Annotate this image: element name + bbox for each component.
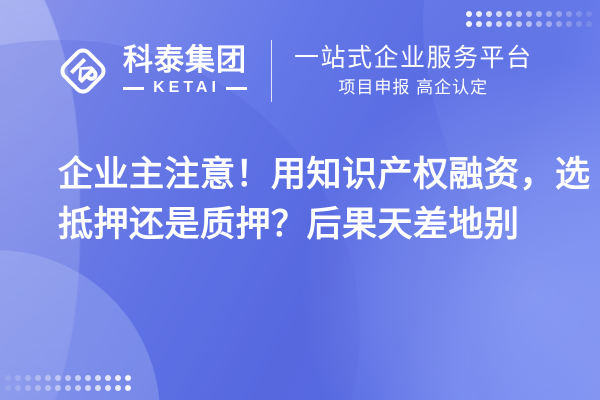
dot xyxy=(15,385,21,391)
headline: 企业主注意！用知识产权融资，选 抵押还是质押？后果天差地别 xyxy=(58,150,558,250)
dot xyxy=(55,385,61,391)
dot xyxy=(115,375,121,381)
dot xyxy=(105,385,111,391)
dot xyxy=(516,21,522,27)
dot xyxy=(75,375,81,381)
dot xyxy=(85,375,91,381)
dot xyxy=(466,21,472,27)
banner-header: 科泰集团 KETAI 一站式企业服务平台 项目申报 高企认定 xyxy=(55,33,533,109)
tagline-block: 一站式企业服务平台 项目申报 高企认定 xyxy=(294,44,533,98)
logo-english-row: KETAI xyxy=(123,79,247,97)
logo-rule-left xyxy=(123,87,144,90)
dot xyxy=(486,11,492,17)
dot xyxy=(486,21,492,27)
dot xyxy=(506,21,512,27)
dot xyxy=(556,21,562,27)
dot xyxy=(125,385,131,391)
dot xyxy=(25,385,31,391)
dot xyxy=(45,375,51,381)
logo-wordmark: 科泰集团 KETAI xyxy=(123,45,247,97)
dot xyxy=(506,11,512,17)
dot xyxy=(586,11,592,17)
dot xyxy=(536,21,542,27)
tagline-sub: 项目申报 高企认定 xyxy=(294,78,533,98)
logo-rule-right xyxy=(226,87,247,90)
dot xyxy=(35,385,41,391)
dot xyxy=(85,385,91,391)
dot xyxy=(25,375,31,381)
dot xyxy=(466,11,472,17)
ketai-logo[interactable]: 科泰集团 KETAI xyxy=(55,43,247,99)
dot xyxy=(536,11,542,17)
dot-grid-top-right xyxy=(466,11,592,27)
logo-company-name-en: KETAI xyxy=(144,79,226,97)
ketai-kt-monogram-icon xyxy=(55,43,111,99)
dot xyxy=(476,11,482,17)
dot xyxy=(576,21,582,27)
logo-company-name-cn: 科泰集团 xyxy=(123,45,247,76)
dot xyxy=(15,375,21,381)
header-divider xyxy=(271,40,272,102)
tagline-main: 一站式企业服务平台 xyxy=(294,44,533,72)
dot xyxy=(566,21,572,27)
dot xyxy=(75,385,81,391)
dot xyxy=(496,11,502,17)
dot xyxy=(516,11,522,17)
dot xyxy=(125,375,131,381)
dot xyxy=(5,385,11,391)
dot xyxy=(576,11,582,17)
dot xyxy=(546,11,552,17)
headline-line-1: 企业主注意！用知识产权融资，选 xyxy=(58,150,558,200)
dot xyxy=(105,375,111,381)
dot xyxy=(45,385,51,391)
dot xyxy=(95,375,101,381)
dot xyxy=(526,21,532,27)
promo-banner: 科泰集团 KETAI 一站式企业服务平台 项目申报 高企认定 企业主注意！用知识… xyxy=(0,0,600,400)
dot xyxy=(95,385,101,391)
dot xyxy=(115,385,121,391)
dot xyxy=(556,11,562,17)
dot xyxy=(476,21,482,27)
dot-grid-bottom-left xyxy=(5,375,131,391)
dot xyxy=(496,21,502,27)
dot xyxy=(55,375,61,381)
headline-line-2: 抵押还是质押？后果天差地别 xyxy=(58,200,558,250)
dot xyxy=(65,375,71,381)
dot xyxy=(546,21,552,27)
dot xyxy=(35,375,41,381)
dot xyxy=(65,385,71,391)
dot xyxy=(5,375,11,381)
dot xyxy=(586,21,592,27)
dot xyxy=(566,11,572,17)
dot xyxy=(526,11,532,17)
